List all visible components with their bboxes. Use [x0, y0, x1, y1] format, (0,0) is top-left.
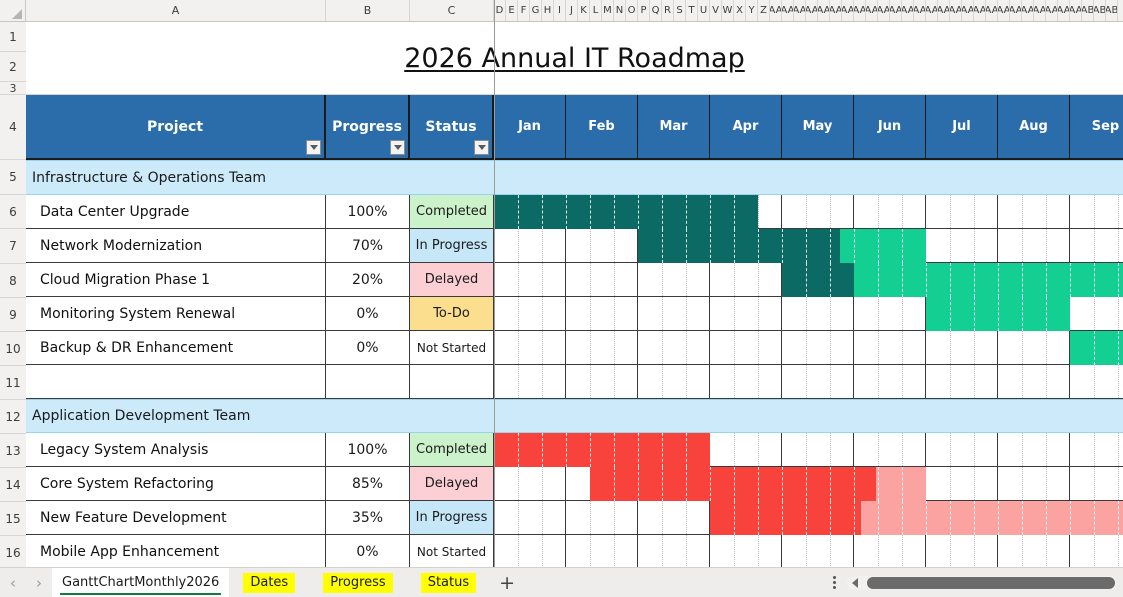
column-header-AA-31[interactable]: AA — [866, 0, 878, 21]
week-gridline — [1046, 195, 1047, 228]
week-gridline — [806, 433, 807, 466]
week-gridline — [614, 535, 615, 567]
add-sheet-button[interactable]: + — [490, 568, 524, 597]
sheet-tab-bar: ‹ › GanttChartMonthly2026DatesProgressSt… — [0, 567, 1123, 597]
column-header-month-jul: Jul — [926, 95, 998, 160]
gantt-cell[interactable] — [638, 433, 710, 467]
gantt-cell[interactable] — [494, 263, 566, 297]
gantt-cell[interactable] — [1070, 467, 1123, 501]
column-header-Q-13[interactable]: Q — [650, 0, 662, 21]
column-header-AA-23[interactable]: AA — [770, 0, 782, 21]
week-gridline — [830, 229, 831, 262]
cell-project[interactable]: Backup & DR Enhancement — [26, 331, 326, 365]
column-header-N-10[interactable]: N — [614, 0, 626, 21]
row-header-16[interactable]: 16 — [0, 536, 26, 570]
column-header-AB-51[interactable]: AB — [1106, 0, 1118, 21]
column-header-AA-37[interactable]: AA — [938, 0, 950, 21]
gantt-cell[interactable] — [926, 467, 998, 501]
gantt-cell[interactable] — [854, 195, 926, 229]
column-header-K-7[interactable]: K — [578, 0, 590, 21]
gantt-cell[interactable] — [998, 229, 1070, 263]
week-gridline — [1118, 331, 1119, 364]
gantt-cell[interactable] — [782, 297, 854, 331]
column-header-month-jun: Jun — [854, 95, 926, 160]
gantt-cell[interactable] — [494, 467, 566, 501]
gantt-cell[interactable] — [710, 433, 782, 467]
gantt-cell[interactable] — [494, 195, 566, 229]
column-header-Z-22[interactable]: Z — [758, 0, 770, 21]
week-gridline — [878, 365, 879, 398]
column-header-H-4[interactable]: H — [542, 0, 554, 21]
gantt-cell[interactable] — [566, 331, 638, 365]
table-row[interactable]: Network Modernization70%In Progress — [26, 229, 1123, 263]
gantt-cell[interactable] — [782, 501, 854, 535]
column-header-C[interactable]: C — [410, 0, 494, 21]
cell-progress[interactable]: 0% — [326, 331, 410, 365]
gantt-cell[interactable] — [854, 501, 926, 535]
row-header-6[interactable]: 6 — [0, 195, 26, 229]
status-badge[interactable]: Not Started — [410, 535, 494, 567]
column-header-AA-24[interactable]: AA — [782, 0, 794, 21]
week-gridline — [662, 331, 663, 364]
gantt-cell[interactable] — [494, 501, 566, 535]
gantt-track — [494, 467, 1123, 501]
gantt-cell[interactable] — [782, 263, 854, 297]
column-header-J-6[interactable]: J — [566, 0, 578, 21]
week-gridline — [686, 501, 687, 534]
table-row[interactable]: Legacy System Analysis100%Completed — [26, 433, 1123, 467]
row-header-13[interactable]: 13 — [0, 434, 26, 468]
row-header-4[interactable]: 4 — [0, 95, 26, 160]
week-gridline — [590, 467, 591, 500]
row-header-5[interactable]: 5 — [0, 160, 26, 195]
week-gridline — [758, 535, 759, 567]
gantt-cell[interactable] — [854, 331, 926, 365]
filter-dropdown-project[interactable] — [306, 140, 321, 155]
gantt-cell[interactable] — [854, 433, 926, 467]
gantt-cell[interactable] — [1070, 229, 1123, 263]
gantt-cell[interactable] — [998, 501, 1070, 535]
gantt-cell[interactable] — [1070, 331, 1123, 365]
gantt-cell[interactable] — [1070, 195, 1123, 229]
column-header-AB-50[interactable]: AB — [1094, 0, 1106, 21]
table-row[interactable]: Cloud Migration Phase 120%Delayed — [26, 263, 1123, 297]
column-header-AA-34[interactable]: AA — [902, 0, 914, 21]
week-gridline — [1046, 535, 1047, 567]
gantt-cell[interactable] — [710, 365, 782, 399]
table-row[interactable]: Monitoring System Renewal0%To-Do — [26, 297, 1123, 331]
column-header-U-17[interactable]: U — [698, 0, 710, 21]
gantt-cell[interactable] — [782, 467, 854, 501]
gantt-cell[interactable] — [566, 195, 638, 229]
week-gridline — [950, 229, 951, 262]
week-gridline — [806, 331, 807, 364]
column-header-A[interactable]: A — [26, 0, 326, 21]
week-gridline — [950, 433, 951, 466]
row-header-7[interactable]: 7 — [0, 229, 26, 264]
cell-project[interactable]: Core System Refactoring — [26, 467, 326, 501]
table-row[interactable]: Core System Refactoring85%Delayed — [26, 467, 1123, 501]
gantt-cell[interactable] — [782, 365, 854, 399]
freeze-pane-divider-top — [494, 0, 495, 22]
column-header-R-14[interactable]: R — [662, 0, 674, 21]
gantt-cell[interactable] — [782, 331, 854, 365]
column-header-AA-48[interactable]: AA — [1070, 0, 1082, 21]
status-badge[interactable]: Completed — [410, 433, 494, 467]
gantt-cell[interactable] — [998, 467, 1070, 501]
empty-cell[interactable] — [326, 365, 410, 399]
gantt-cell[interactable] — [494, 365, 566, 399]
prev-sheet-button[interactable]: ‹ — [0, 568, 26, 597]
column-header-W-19[interactable]: W — [722, 0, 734, 21]
week-gridline — [902, 433, 903, 466]
empty-cell[interactable] — [26, 365, 326, 399]
column-header-AA-40[interactable]: AA — [974, 0, 986, 21]
gantt-cell[interactable] — [926, 331, 998, 365]
gantt-cell[interactable] — [710, 229, 782, 263]
column-header-AA-38[interactable]: AA — [950, 0, 962, 21]
week-gridline — [518, 467, 519, 500]
week-gridline — [902, 331, 903, 364]
column-header-AA-30[interactable]: AA — [854, 0, 866, 21]
column-header-AA-41[interactable]: AA — [986, 0, 998, 21]
week-gridline — [542, 297, 543, 330]
sheet-surface: 2026 Annual IT Roadmap Project Progress … — [26, 22, 1123, 567]
week-gridline — [542, 433, 543, 466]
week-gridline — [590, 501, 591, 534]
gantt-cell[interactable] — [926, 365, 998, 399]
column-header-L-8[interactable]: L — [590, 0, 602, 21]
week-gridline — [662, 467, 663, 500]
gantt-cell[interactable] — [710, 331, 782, 365]
column-header-AA-35[interactable]: AA — [914, 0, 926, 21]
page-title: 2026 Annual IT Roadmap — [26, 22, 1123, 94]
week-gridline — [662, 263, 663, 296]
column-header-O-11[interactable]: O — [626, 0, 638, 21]
month-label: Aug — [1019, 119, 1048, 134]
column-header-T-16[interactable]: T — [686, 0, 698, 21]
gantt-cell[interactable] — [638, 263, 710, 297]
month-label: Jun — [878, 119, 901, 134]
gantt-cell[interactable] — [854, 297, 926, 331]
week-gridline — [878, 501, 879, 534]
gantt-cell[interactable] — [926, 501, 998, 535]
spacer-row — [26, 365, 1123, 399]
gantt-cell[interactable] — [1070, 365, 1123, 399]
gantt-track — [494, 331, 1123, 365]
week-gridline — [758, 297, 759, 330]
gantt-cell[interactable] — [854, 467, 926, 501]
column-header-AA-28[interactable]: AA — [830, 0, 842, 21]
table-row[interactable]: Backup & DR Enhancement0%Not Started — [26, 331, 1123, 365]
week-gridline — [1118, 433, 1119, 466]
gantt-cell[interactable] — [710, 263, 782, 297]
gantt-cell[interactable] — [566, 297, 638, 331]
row-header-12[interactable]: 12 — [0, 400, 26, 434]
month-label: Apr — [733, 119, 759, 134]
column-header-AA-33[interactable]: AA — [890, 0, 902, 21]
gantt-cell[interactable] — [710, 467, 782, 501]
row-header-8[interactable]: 8 — [0, 264, 26, 298]
gantt-cell[interactable] — [782, 195, 854, 229]
column-header-E-1[interactable]: E — [506, 0, 518, 21]
week-gridline — [686, 195, 687, 228]
week-gridline — [518, 229, 519, 262]
week-gridline — [950, 297, 951, 330]
gantt-cell[interactable] — [710, 535, 782, 567]
next-sheet-button[interactable]: › — [26, 568, 52, 597]
column-header-AA-45[interactable]: AA — [1034, 0, 1046, 21]
cell-progress[interactable]: 0% — [326, 297, 410, 331]
gantt-cell[interactable] — [854, 229, 926, 263]
gantt-cell[interactable] — [566, 433, 638, 467]
week-gridline — [830, 331, 831, 364]
week-gridline — [806, 297, 807, 330]
status-badge[interactable]: Completed — [410, 195, 494, 229]
gantt-cell[interactable] — [998, 195, 1070, 229]
scrollbar-thumb[interactable] — [867, 577, 1115, 589]
week-gridline — [1046, 501, 1047, 534]
week-gridline — [686, 263, 687, 296]
column-header-AA-36[interactable]: AA — [926, 0, 938, 21]
gantt-cell[interactable] — [926, 535, 998, 567]
week-gridline — [974, 467, 975, 500]
column-header-X-20[interactable]: X — [734, 0, 746, 21]
column-header-AA-29[interactable]: AA — [842, 0, 854, 21]
column-header-AA-47[interactable]: AA — [1058, 0, 1070, 21]
gantt-cell[interactable] — [926, 229, 998, 263]
chevron-down-icon — [394, 145, 402, 150]
row-header-9[interactable]: 9 — [0, 298, 26, 332]
column-header-I-5[interactable]: I — [554, 0, 566, 21]
gantt-cell[interactable] — [638, 195, 710, 229]
week-gridline — [1118, 195, 1119, 228]
gantt-cell[interactable] — [638, 297, 710, 331]
gantt-cell[interactable] — [566, 365, 638, 399]
week-gridline — [758, 229, 759, 262]
week-gridline — [950, 331, 951, 364]
column-header-S-15[interactable]: S — [674, 0, 686, 21]
gantt-cell[interactable] — [566, 467, 638, 501]
cell-progress[interactable]: 20% — [326, 263, 410, 297]
gantt-cell[interactable] — [926, 263, 998, 297]
gantt-cell[interactable] — [1070, 263, 1123, 297]
active-tab-underline — [60, 593, 221, 595]
week-gridline — [518, 501, 519, 534]
cell-project[interactable]: Data Center Upgrade — [26, 195, 326, 229]
status-badge[interactable]: Delayed — [410, 263, 494, 297]
gantt-cell[interactable] — [1070, 535, 1123, 567]
week-gridline — [878, 263, 879, 296]
gantt-cell[interactable] — [926, 297, 998, 331]
column-header-D-0[interactable]: D — [494, 0, 506, 21]
week-gridline — [590, 297, 591, 330]
cell-progress[interactable]: 0% — [326, 535, 410, 567]
week-gridline — [662, 535, 663, 567]
week-gridline — [758, 467, 759, 500]
cell-progress[interactable]: 85% — [326, 467, 410, 501]
sheet-tab-ganttchartmonthly2026[interactable]: GanttChartMonthly2026 — [52, 568, 229, 597]
gantt-cell[interactable] — [638, 501, 710, 535]
week-gridline — [542, 331, 543, 364]
status-badge[interactable]: Not Started — [410, 331, 494, 365]
sheet-tab-dates[interactable]: Dates — [233, 568, 305, 597]
empty-cell[interactable] — [410, 365, 494, 399]
gantt-cell[interactable] — [1070, 297, 1123, 331]
status-badge[interactable]: In Progress — [410, 229, 494, 263]
gantt-cell[interactable] — [494, 297, 566, 331]
scroll-left-icon[interactable] — [852, 578, 858, 588]
week-gridline — [974, 195, 975, 228]
cell-progress[interactable]: 70% — [326, 229, 410, 263]
column-header-month-mar: Mar — [638, 95, 710, 160]
row-header-1[interactable]: 1 — [0, 22, 26, 52]
week-gridline — [950, 501, 951, 534]
week-gridline — [518, 195, 519, 228]
gantt-cell[interactable] — [1070, 501, 1123, 535]
gantt-cell[interactable] — [926, 195, 998, 229]
table-row[interactable]: Data Center Upgrade100%Completed — [26, 195, 1123, 229]
gantt-cell[interactable] — [998, 297, 1070, 331]
cell-project[interactable]: Cloud Migration Phase 1 — [26, 263, 326, 297]
row-header-3[interactable]: 3 — [0, 82, 26, 95]
status-badge[interactable]: In Progress — [410, 501, 494, 535]
column-header-AA-25[interactable]: AA — [794, 0, 806, 21]
gantt-cell[interactable] — [710, 297, 782, 331]
month-label: Sep — [1092, 119, 1120, 134]
select-all-corner[interactable] — [0, 0, 26, 21]
gantt-cell[interactable] — [1070, 433, 1123, 467]
gantt-cell[interactable] — [494, 433, 566, 467]
week-gridline — [830, 195, 831, 228]
gantt-cell[interactable] — [782, 433, 854, 467]
week-gridline — [902, 365, 903, 398]
cell-progress[interactable]: 100% — [326, 195, 410, 229]
week-gridline — [806, 501, 807, 534]
row-header-15[interactable]: 15 — [0, 502, 26, 536]
gantt-cell[interactable] — [926, 433, 998, 467]
week-gridline — [1118, 467, 1119, 500]
gantt-cell[interactable] — [638, 467, 710, 501]
gantt-cell[interactable] — [494, 229, 566, 263]
gantt-cell[interactable] — [638, 365, 710, 399]
gantt-cell[interactable] — [998, 365, 1070, 399]
week-gridline — [974, 263, 975, 296]
gantt-cell[interactable] — [566, 501, 638, 535]
gantt-cell[interactable] — [494, 535, 566, 567]
sheet-tab-status[interactable]: Status — [411, 568, 486, 597]
filter-dropdown-progress[interactable] — [390, 140, 405, 155]
week-gridline — [734, 501, 735, 534]
gantt-cell[interactable] — [854, 535, 926, 567]
gantt-cell[interactable] — [566, 229, 638, 263]
gantt-cell[interactable] — [854, 263, 926, 297]
week-gridline — [662, 297, 663, 330]
cell-project[interactable]: Network Modernization — [26, 229, 326, 263]
column-header-AA-27[interactable]: AA — [818, 0, 830, 21]
gantt-cell[interactable] — [638, 535, 710, 567]
column-header-V-18[interactable]: V — [710, 0, 722, 21]
week-gridline — [542, 365, 543, 398]
gantt-cell[interactable] — [854, 365, 926, 399]
column-header-month-jan: Jan — [494, 95, 566, 160]
column-header-AA-42[interactable]: AA — [998, 0, 1010, 21]
status-badge[interactable]: Delayed — [410, 467, 494, 501]
week-gridline — [878, 535, 879, 567]
week-gridline — [686, 535, 687, 567]
table-row[interactable]: Mobile App Enhancement0%Not Started — [26, 535, 1123, 567]
column-header-AA-26[interactable]: AA — [806, 0, 818, 21]
sheet-options-menu-icon[interactable] — [821, 568, 847, 597]
column-header-AA-43[interactable]: AA — [1010, 0, 1022, 21]
week-gridline — [734, 365, 735, 398]
filter-dropdown-status[interactable] — [474, 140, 489, 155]
week-gridline — [806, 195, 807, 228]
column-header-AA-44[interactable]: AA — [1022, 0, 1034, 21]
week-gridline — [806, 467, 807, 500]
week-gridline — [1118, 229, 1119, 262]
row-header-2[interactable]: 2 — [0, 52, 26, 82]
week-gridline — [1094, 229, 1095, 262]
gantt-cell[interactable] — [998, 535, 1070, 567]
week-gridline — [542, 535, 543, 567]
sheet-tab-progress[interactable]: Progress — [313, 568, 402, 597]
table-row[interactable]: New Feature Development35%In Progress — [26, 501, 1123, 535]
cell-project[interactable]: Legacy System Analysis — [26, 433, 326, 467]
cell-project[interactable]: New Feature Development — [26, 501, 326, 535]
week-gridline — [518, 365, 519, 398]
gantt-cell[interactable] — [710, 195, 782, 229]
week-gridline — [1094, 501, 1095, 534]
week-gridline — [902, 467, 903, 500]
gantt-cell[interactable] — [998, 263, 1070, 297]
column-header-AB-49[interactable]: AB — [1082, 0, 1094, 21]
week-gridline — [1022, 365, 1023, 398]
week-gridline — [950, 535, 951, 567]
week-gridline — [1046, 467, 1047, 500]
column-header-AA-32[interactable]: AA — [878, 0, 890, 21]
gantt-cell[interactable] — [782, 229, 854, 263]
horizontal-scrollbar[interactable] — [847, 576, 1117, 590]
cell-project[interactable]: Monitoring System Renewal — [26, 297, 326, 331]
gantt-cell[interactable] — [782, 535, 854, 567]
row-header-14[interactable]: 14 — [0, 468, 26, 502]
cell-project[interactable]: Mobile App Enhancement — [26, 535, 326, 567]
gantt-cell[interactable] — [998, 433, 1070, 467]
cell-progress[interactable]: 100% — [326, 433, 410, 467]
row-header-11[interactable]: 11 — [0, 366, 26, 400]
gantt-cell[interactable] — [494, 331, 566, 365]
gantt-cell[interactable] — [998, 331, 1070, 365]
column-header-M-9[interactable]: M — [602, 0, 614, 21]
status-badge[interactable]: To-Do — [410, 297, 494, 331]
column-header-P-12[interactable]: P — [638, 0, 650, 21]
column-header-Y-21[interactable]: Y — [746, 0, 758, 21]
column-header-F-2[interactable]: F — [518, 0, 530, 21]
column-header-AA-39[interactable]: AA — [962, 0, 974, 21]
cell-progress[interactable]: 35% — [326, 501, 410, 535]
column-header-AA-46[interactable]: AA — [1046, 0, 1058, 21]
gantt-cell[interactable] — [710, 501, 782, 535]
column-header-B[interactable]: B — [326, 0, 410, 21]
gantt-cell[interactable] — [638, 331, 710, 365]
gantt-cell[interactable] — [566, 535, 638, 567]
row-header-10[interactable]: 10 — [0, 332, 26, 366]
gantt-cell[interactable] — [566, 263, 638, 297]
gantt-cell[interactable] — [638, 229, 710, 263]
week-gridline — [614, 297, 615, 330]
column-header-G-3[interactable]: G — [530, 0, 542, 21]
